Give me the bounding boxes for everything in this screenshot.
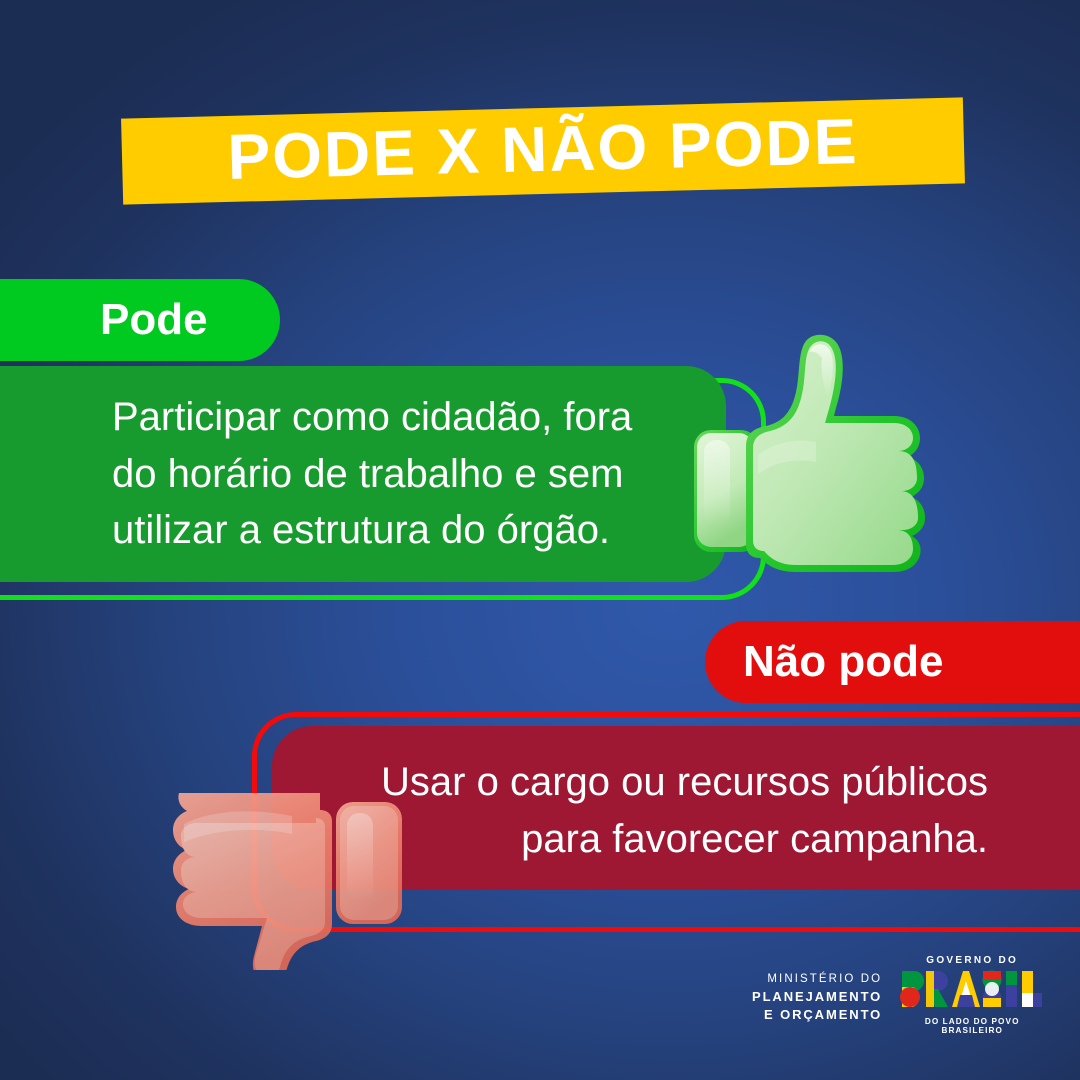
ministry-line-1: MINISTÉRIO DO	[752, 971, 882, 987]
poster-canvas: PODE X NÃO PODE Participar como cidadão,…	[0, 0, 1080, 1080]
forbidden-pill-label: Não pode	[743, 640, 943, 684]
allowed-card-text: Participar como cidadão, fora do horário…	[112, 389, 632, 559]
thumbs-down-icon	[150, 780, 430, 970]
allowed-pill-label: Pode	[100, 298, 208, 342]
allowed-card-body: Participar como cidadão, fora do horário…	[0, 366, 726, 582]
brasil-wordmark-icon	[900, 969, 1044, 1009]
ministry-line-2: PLANEJAMENTO	[752, 988, 882, 1006]
ministry-line-3: E ORÇAMENTO	[752, 1006, 882, 1024]
allowed-pill-tab: Pode	[0, 279, 280, 361]
footer-logos: MINISTÉRIO DO PLANEJAMENTO E ORÇAMENTO G…	[752, 958, 1048, 1032]
forbidden-pill-tab: Não pode	[705, 621, 1080, 703]
governo-label: GOVERNO DO	[900, 955, 1044, 966]
ministry-logo: MINISTÉRIO DO PLANEJAMENTO E ORÇAMENTO	[752, 965, 882, 1024]
page-title: PODE X NÃO PODE	[227, 109, 859, 189]
thumbs-up-icon	[688, 330, 938, 585]
governo-do-brasil-logo: GOVERNO DO	[900, 955, 1044, 1035]
governo-tagline: DO LADO DO POVO BRASILEIRO	[900, 1017, 1044, 1035]
title-banner: PODE X NÃO PODE	[121, 97, 965, 204]
